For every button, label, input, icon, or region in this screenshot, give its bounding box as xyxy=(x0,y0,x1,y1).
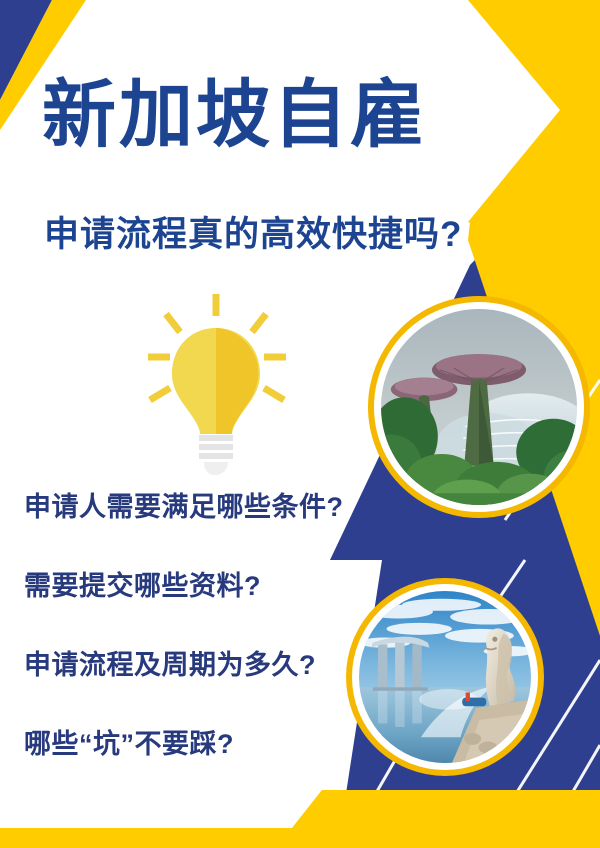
photo-gardens-by-the-bay xyxy=(368,296,590,518)
lightbulb-icon xyxy=(118,292,318,482)
question-item-4: 哪些“坑”不要踩? xyxy=(24,729,394,760)
gardens-illustration xyxy=(381,309,577,505)
poster-canvas: 新加坡自雇 申请流程真的高效快捷吗? xyxy=(0,0,600,848)
question-list: 申请人需要满足哪些条件? 需要提交哪些资料? 申请流程及周期为多久? 哪些“坑”… xyxy=(24,492,394,760)
poster-subtitle: 申请流程真的高效快捷吗? xyxy=(44,216,524,255)
lightbulb-base xyxy=(199,435,233,475)
red-figure xyxy=(466,692,470,701)
question-item-1: 申请人需要满足哪些条件? xyxy=(24,492,394,523)
question-item-3: 申请流程及周期为多久? xyxy=(24,650,394,681)
lightbulb-shadow xyxy=(216,328,258,434)
lightbulb-graphic xyxy=(118,292,318,482)
photo-gardens-inner xyxy=(381,309,577,505)
question-item-2: 需要提交哪些资料? xyxy=(24,571,394,602)
poster-title: 新加坡自雇 xyxy=(42,78,512,152)
